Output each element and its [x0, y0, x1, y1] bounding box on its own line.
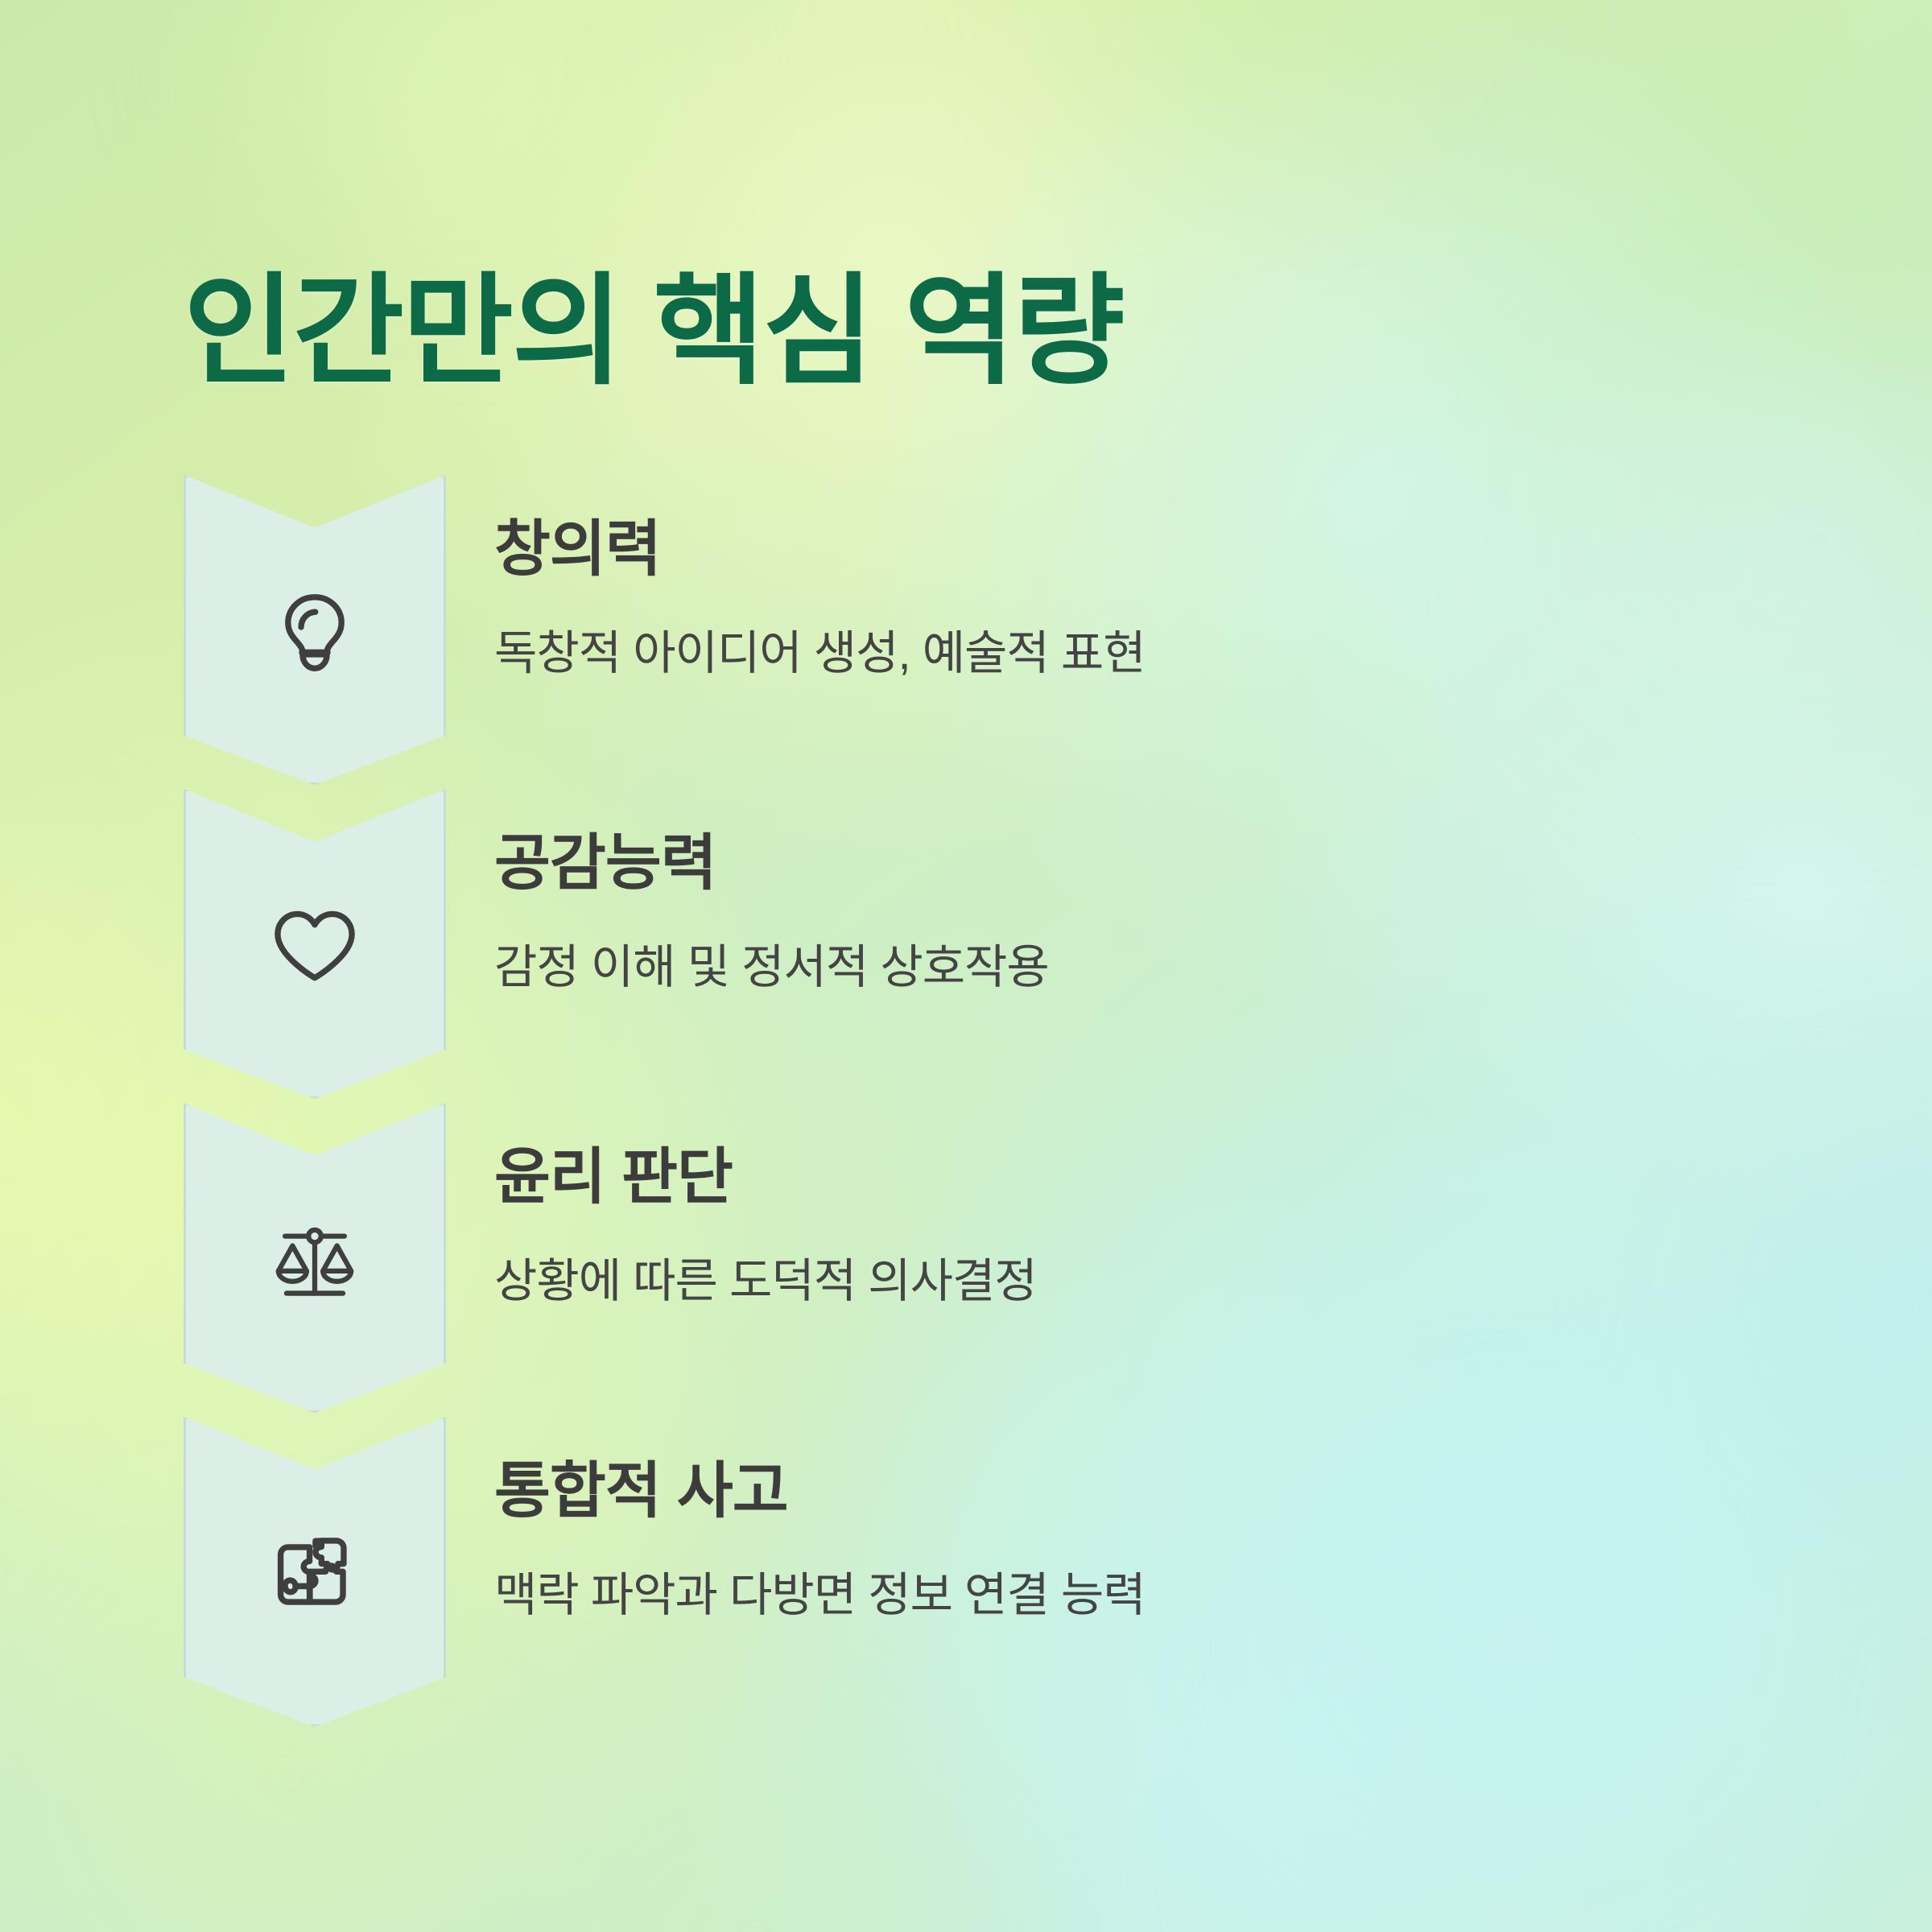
badge-chevron-3: [184, 1103, 446, 1413]
poster-content: 인간만의 핵심 역량 창의력 독창적 아이디어 생성, 예술적 표현: [0, 0, 1932, 1932]
list-item[interactable]: 윤리 판단 상황에 따른 도덕적 의사결정: [0, 1103, 1932, 1417]
page-title: 인간만의 핵심 역량: [184, 265, 1123, 398]
list-item[interactable]: 통합적 사고 맥락 파악과 다방면 정보 연결 능력: [0, 1417, 1932, 1731]
card-title: 창의력: [494, 514, 1782, 586]
competency-list: 창의력 독창적 아이디어 생성, 예술적 표현 공감능력 감정 이해 및 정서적…: [0, 475, 1932, 1731]
list-item[interactable]: 창의력 독창적 아이디어 생성, 예술적 표현: [0, 475, 1932, 789]
card-text-block: 윤리 판단 상황에 따른 도덕적 의사결정: [494, 1141, 1782, 1311]
badge-chevron-2: [184, 789, 446, 1099]
card-title: 통합적 사고: [494, 1455, 1782, 1528]
heart-icon: [267, 899, 362, 994]
lightbulb-icon: [267, 585, 362, 680]
badge-chevron-4: [184, 1417, 446, 1727]
card-text-block: 통합적 사고 맥락 파악과 다방면 정보 연결 능력: [494, 1455, 1782, 1625]
badge-chevron-1: [184, 475, 446, 785]
card-text-block: 공감능력 감정 이해 및 정서적 상호작용: [494, 828, 1782, 997]
card-description: 상황에 따른 도덕적 의사결정: [494, 1251, 1782, 1311]
scales-balance-icon: [267, 1213, 362, 1308]
list-item[interactable]: 공감능력 감정 이해 및 정서적 상호작용: [0, 789, 1932, 1103]
card-title: 윤리 판단: [494, 1141, 1782, 1214]
card-description: 독창적 아이디어 생성, 예술적 표현: [494, 623, 1782, 683]
card-description: 맥락 파악과 다방면 정보 연결 능력: [494, 1565, 1782, 1625]
card-description: 감정 이해 및 정서적 상호작용: [494, 937, 1782, 997]
card-text-block: 창의력 독창적 아이디어 생성, 예술적 표현: [494, 514, 1782, 683]
puzzle-pieces-icon: [267, 1527, 362, 1622]
card-title: 공감능력: [494, 828, 1782, 900]
